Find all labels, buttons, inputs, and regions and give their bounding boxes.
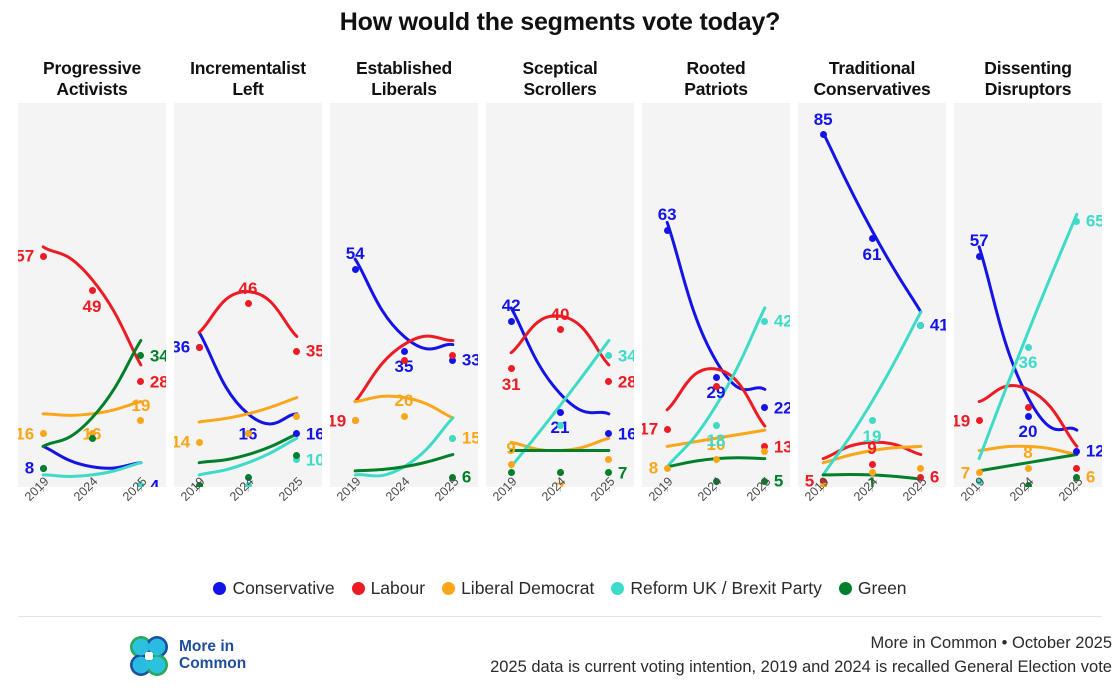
legend-swatch-icon <box>213 582 226 595</box>
data-point-labour <box>869 461 876 468</box>
data-point-conservative <box>557 409 564 416</box>
series-line-liberal-democrat <box>43 402 141 416</box>
legend-label: Green <box>858 578 907 599</box>
data-label-green: 6 <box>462 469 471 486</box>
data-label-conservative: 8 <box>25 460 34 477</box>
data-point-conservative <box>869 235 876 242</box>
data-point-labour <box>976 417 983 424</box>
series-line-conservative <box>199 332 297 424</box>
panel-x-axis: 201920242025 <box>798 487 946 528</box>
data-point-labour <box>508 365 515 372</box>
more-in-common-mark-icon <box>126 634 172 678</box>
data-label-conservative: 4 <box>150 477 159 486</box>
data-point-green <box>89 435 96 442</box>
chart-panel-7: DissentingDisruptors57201219786366520192… <box>954 58 1102 528</box>
data-label-conservative: 42 <box>502 297 521 314</box>
data-point-reform-uk-brexit-party <box>1025 344 1032 351</box>
data-point-labour <box>713 383 720 390</box>
data-point-conservative <box>820 131 827 138</box>
chart-legend: ConservativeLabourLiberal DemocratReform… <box>0 578 1120 599</box>
legend-item-reform-uk-brexit-party[interactable]: Reform UK / Brexit Party <box>611 578 822 599</box>
chart-panel-3: EstablishedLiberals543533192015132620192… <box>330 58 478 528</box>
data-point-labour <box>1025 404 1032 411</box>
data-point-labour <box>664 426 671 433</box>
chart-panel-5: RootedPatriots63292217138101842520192024… <box>642 58 790 528</box>
panel-plot-area: 572012197863665 <box>954 103 1102 487</box>
data-label-reform-uk-brexit-party: 34 <box>618 347 634 364</box>
chart-panel-4: ScepticalScrollers4221163140289734720192… <box>486 58 634 528</box>
series-line-labour <box>199 292 297 337</box>
data-label-liberal-democrat: 8 <box>1023 444 1032 461</box>
footer-note: 2025 data is current voting intention, 2… <box>490 656 1112 680</box>
page-title: How would the segments vote today? <box>0 8 1120 37</box>
data-point-labour <box>196 344 203 351</box>
data-label-conservative: 85 <box>814 111 833 128</box>
legend-label: Conservative <box>232 578 334 599</box>
legend-item-liberal-democrat[interactable]: Liberal Democrat <box>442 578 594 599</box>
legend-item-green[interactable]: Green <box>839 578 907 599</box>
panel-title: DissentingDisruptors <box>954 58 1102 103</box>
panel-plot-area: 632922171381018425 <box>642 103 790 487</box>
footer-text-block: More in Common • October 2025 2025 data … <box>490 632 1112 680</box>
data-label-liberal-democrat: 15 <box>462 430 478 447</box>
data-label-liberal-democrat: 14 <box>174 434 190 451</box>
footer-divider <box>18 616 1102 617</box>
data-point-liberal-democrat <box>352 417 359 424</box>
data-point-labour <box>89 287 96 294</box>
data-label-liberal-democrat: 9 <box>506 440 515 457</box>
legend-swatch-icon <box>442 582 455 595</box>
data-label-green: 7 <box>618 464 627 481</box>
series-line-conservative <box>355 259 453 349</box>
chart-panel-2: IncrementalistLeft3616164635141410201920… <box>174 58 322 528</box>
panel-plot-area: 834574928161619134 <box>18 103 166 487</box>
data-label-labour: 17 <box>642 421 658 438</box>
data-label-conservative: 12 <box>1086 443 1102 460</box>
panel-plot-area: 8561415961910 <box>798 103 946 487</box>
data-label-conservative: 41 <box>930 317 946 334</box>
panel-title: IncrementalistLeft <box>174 58 322 103</box>
data-point-conservative <box>976 253 983 260</box>
panel-x-axis: 201920242025 <box>954 487 1102 528</box>
brand-wordmark: More in Common <box>179 639 246 672</box>
data-label-labour: 28 <box>150 373 166 390</box>
data-label-labour: 31 <box>502 376 521 393</box>
panel-plot-area: 3616164635141410 <box>174 103 322 487</box>
data-point-conservative <box>664 227 671 234</box>
data-label-reform-uk-brexit-party: 42 <box>774 313 790 330</box>
data-point-liberal-democrat <box>664 465 671 472</box>
data-label-conservative: 57 <box>970 232 989 249</box>
data-label-labour: 19 <box>954 412 970 429</box>
data-label-reform-uk-brexit-party: 19 <box>863 428 882 445</box>
data-label-labour: 13 <box>774 438 790 455</box>
data-point-liberal-democrat <box>1025 465 1032 472</box>
panel-title-line: Activists <box>43 79 141 100</box>
panel-x-axis: 201920242025 <box>486 487 634 528</box>
data-point-reform-uk-brexit-party <box>761 318 768 325</box>
more-in-common-logo: More in Common <box>126 634 246 678</box>
panel-x-axis: 201920242025 <box>174 487 322 528</box>
series-line-conservative <box>979 247 1077 430</box>
brand-line-2: Common <box>179 656 246 673</box>
legend-label: Liberal Democrat <box>461 578 594 599</box>
data-label-labour: 49 <box>83 298 102 315</box>
data-label-conservative: 20 <box>1019 423 1038 440</box>
panel-title-line: Rooted <box>684 58 748 79</box>
panel-title-line: Sceptical <box>522 58 597 79</box>
data-label-conservative: 16 <box>306 425 322 442</box>
panel-title-line: Disruptors <box>984 79 1071 100</box>
data-label-labour: 46 <box>239 280 258 297</box>
panel-plot-area: 42211631402897347 <box>486 103 634 487</box>
series-line-conservative <box>823 133 921 312</box>
panel-x-axis: 201920242025 <box>330 487 478 528</box>
data-label-conservative: 22 <box>774 399 790 416</box>
data-label-liberal-democrat: 7 <box>961 464 970 481</box>
data-label-reform-uk-brexit-party: 65 <box>1086 213 1102 230</box>
data-label-liberal-democrat: 16 <box>18 425 34 442</box>
data-point-reform-uk-brexit-party <box>557 422 564 429</box>
data-label-labour: 57 <box>18 248 34 265</box>
series-line-conservative <box>667 223 765 390</box>
data-label-conservative: 54 <box>346 245 365 262</box>
data-point-liberal-democrat <box>508 461 515 468</box>
data-label-conservative: 16 <box>618 425 634 442</box>
legend-swatch-icon <box>352 582 365 595</box>
panel-title: RootedPatriots <box>642 58 790 103</box>
data-label-liberal-democrat: 8 <box>649 460 658 477</box>
data-point-liberal-democrat <box>401 413 408 420</box>
data-label-labour: 19 <box>330 412 346 429</box>
data-label-conservative: 36 <box>174 339 190 356</box>
data-point-reform-uk-brexit-party <box>869 417 876 424</box>
data-label-conservative: 63 <box>658 206 677 223</box>
data-point-conservative <box>401 348 408 355</box>
legend-label: Reform UK / Brexit Party <box>630 578 822 599</box>
data-point-conservative <box>508 318 515 325</box>
data-label-liberal-democrat: 20 <box>395 392 414 409</box>
data-point-reform-uk-brexit-party <box>713 422 720 429</box>
panel-title-line: Incrementalist <box>190 58 306 79</box>
chart-footer: More in Common More in Common • October … <box>0 628 1120 694</box>
panel-title-line: Scrollers <box>522 79 597 100</box>
panel-title-line: Left <box>190 79 306 100</box>
data-point-conservative <box>1073 448 1080 455</box>
legend-label: Labour <box>371 578 426 599</box>
data-point-labour <box>401 357 408 364</box>
data-label-green: 5 <box>774 473 783 487</box>
data-point-conservative <box>352 266 359 273</box>
data-point-labour <box>40 253 47 260</box>
data-label-labour: 28 <box>618 373 634 390</box>
panel-title-line: Patriots <box>684 79 748 100</box>
legend-swatch-icon <box>611 582 624 595</box>
legend-swatch-icon <box>839 582 852 595</box>
data-label-liberal-democrat: 19 <box>131 397 150 414</box>
data-point-labour <box>245 300 252 307</box>
data-point-liberal-democrat <box>245 430 252 437</box>
data-label-labour: 40 <box>551 306 570 323</box>
panel-plot-area: 5435331920151326 <box>330 103 478 487</box>
data-label-reform-uk-brexit-party: 18 <box>707 432 726 449</box>
legend-item-labour[interactable]: Labour <box>352 578 426 599</box>
panel-title: ScepticalScrollers <box>486 58 634 103</box>
data-point-liberal-democrat <box>196 439 203 446</box>
panel-title-line: Conservatives <box>813 79 930 100</box>
data-label-conservative: 33 <box>462 352 478 369</box>
panel-title-line: Progressive <box>43 58 141 79</box>
data-point-liberal-democrat <box>713 456 720 463</box>
data-point-liberal-democrat <box>761 448 768 455</box>
panel-title-line: Established <box>356 58 452 79</box>
series-line-conservative <box>43 447 141 469</box>
data-point-conservative <box>713 374 720 381</box>
data-label-reform-uk-brexit-party: 36 <box>1019 354 1038 371</box>
panel-title-line: Dissenting <box>984 58 1071 79</box>
chart-panels-container: ProgressiveActivists83457492816161913420… <box>0 58 1120 528</box>
brand-line-1: More in <box>179 639 246 656</box>
data-label-conservative: 61 <box>863 246 882 263</box>
data-label-green: 34 <box>150 347 166 364</box>
series-line-reform-uk-brexit-party <box>511 341 609 467</box>
legend-item-conservative[interactable]: Conservative <box>213 578 334 599</box>
data-label-reform-uk-brexit-party: 10 <box>306 451 322 468</box>
data-label-labour: 35 <box>306 343 322 360</box>
panel-title: TraditionalConservatives <box>798 58 946 103</box>
data-point-liberal-democrat <box>40 430 47 437</box>
footer-source: More in Common • October 2025 <box>490 632 1112 656</box>
panel-x-axis: 201920242025 <box>642 487 790 528</box>
data-point-conservative <box>1025 413 1032 420</box>
data-point-green <box>40 465 47 472</box>
panel-title: ProgressiveActivists <box>18 58 166 103</box>
panel-title: EstablishedLiberals <box>330 58 478 103</box>
chart-panel-6: TraditionalConservatives8561415961910201… <box>798 58 946 528</box>
panel-x-axis: 201920242025 <box>18 487 166 528</box>
data-label-labour: 6 <box>930 469 939 486</box>
panel-title-line: Traditional <box>813 58 930 79</box>
panel-title-line: Liberals <box>356 79 452 100</box>
series-line-reform-uk-brexit-party <box>199 438 297 475</box>
data-point-labour <box>557 326 564 333</box>
data-label-liberal-democrat: 6 <box>1086 469 1095 486</box>
chart-panel-1: ProgressiveActivists83457492816161913420… <box>18 58 166 528</box>
data-point-reform-uk-brexit-party <box>449 435 456 442</box>
